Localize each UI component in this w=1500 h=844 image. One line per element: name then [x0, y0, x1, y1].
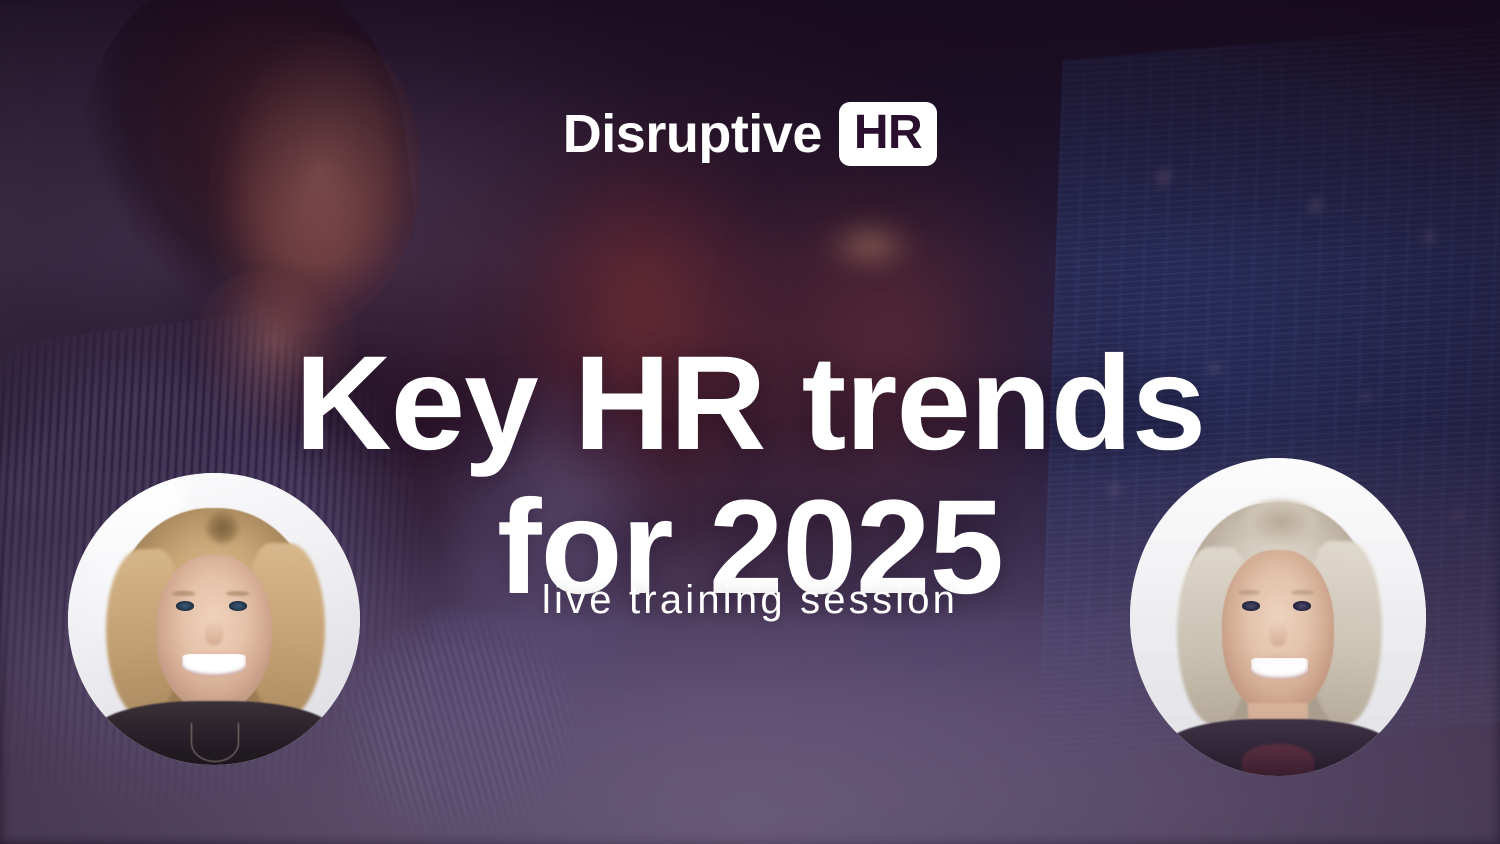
- photo-nose: [205, 619, 223, 645]
- photo-eye-left: [1242, 601, 1260, 611]
- photo-brow-left: [172, 591, 195, 596]
- photo-necklace: [191, 723, 240, 762]
- brand-logo-badge-text: HR: [854, 109, 922, 157]
- brand-logo: Disruptive HR: [0, 102, 1500, 166]
- brand-logo-word: Disruptive: [563, 107, 822, 161]
- banner-content: Disruptive HR Key HR trends for 2025 liv…: [0, 0, 1500, 844]
- photo-eye-right: [229, 601, 247, 610]
- photo-smile: [1251, 658, 1307, 679]
- photo-eye-right: [1293, 601, 1311, 611]
- photo-smile: [182, 654, 246, 676]
- speaker-avatar-right: [1130, 458, 1426, 776]
- photo-eye-left: [176, 601, 194, 610]
- photo-brow-right: [1291, 590, 1313, 595]
- speaker-avatar-left: [68, 473, 360, 765]
- photo-nose: [1269, 620, 1287, 645]
- photo-brow-right: [226, 591, 249, 596]
- photo-hair-top: [1237, 499, 1326, 544]
- headline-line-1: Key HR trends: [0, 332, 1500, 477]
- speaker-photo-right: [1130, 458, 1426, 776]
- photo-hair-part: [202, 511, 243, 552]
- promo-banner: Disruptive HR Key HR trends for 2025 liv…: [0, 0, 1500, 844]
- photo-collar: [1242, 744, 1313, 776]
- speaker-photo-left: [68, 473, 360, 765]
- photo-brow-left: [1238, 590, 1260, 595]
- brand-logo-badge: HR: [839, 102, 937, 166]
